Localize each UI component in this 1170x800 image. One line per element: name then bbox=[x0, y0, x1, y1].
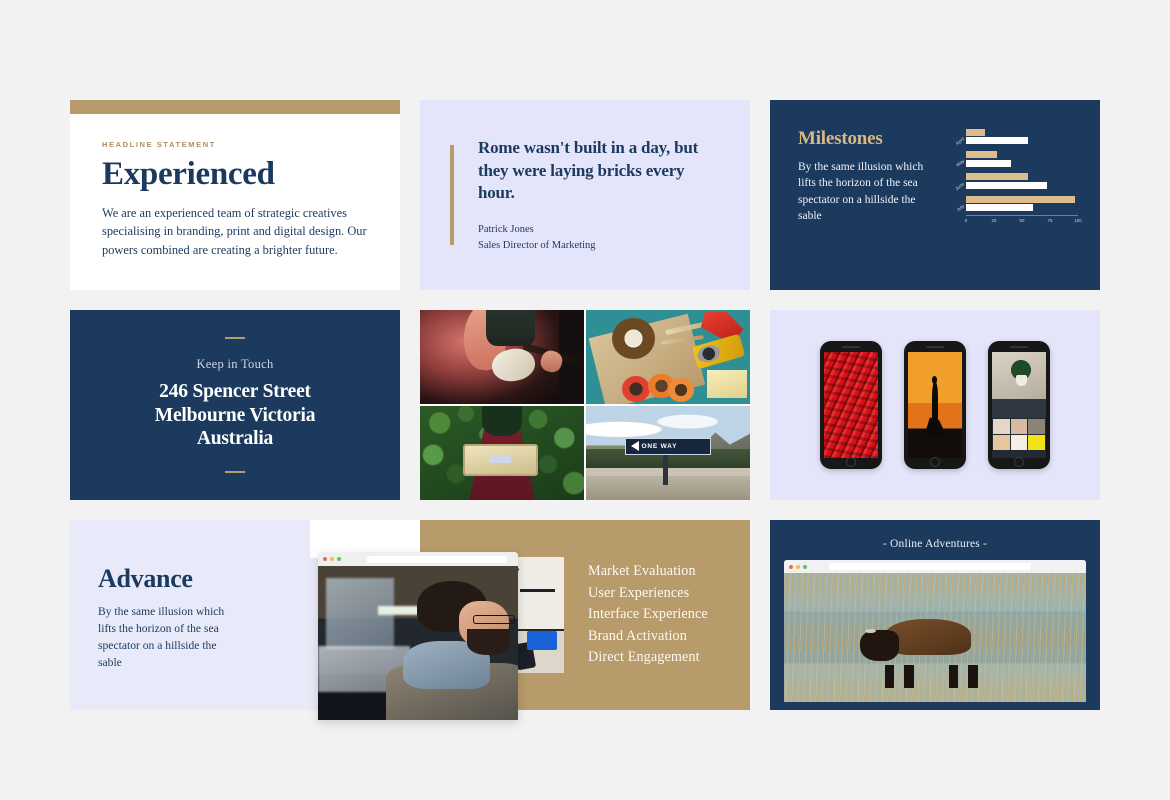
card-milestones: Milestones By the same illusion which li… bbox=[770, 100, 1100, 290]
quote-rule bbox=[450, 145, 454, 245]
card-grid: HEADLINE STATEMENT Experienced We are an… bbox=[70, 100, 1100, 710]
service-item: User Experiences bbox=[588, 583, 708, 605]
phone-red-seats bbox=[820, 341, 882, 469]
chart-tick-label: 0 bbox=[965, 218, 967, 223]
accent-bar bbox=[70, 100, 400, 114]
browser-chrome bbox=[318, 552, 518, 566]
phone-screen-app bbox=[992, 352, 1046, 458]
address-bar[interactable] bbox=[367, 556, 507, 563]
one-way-sign: ONE WAY bbox=[625, 438, 710, 455]
guitarist-photo bbox=[420, 310, 584, 404]
service-item: Interface Experience bbox=[588, 604, 708, 626]
divider-top bbox=[225, 337, 245, 339]
milestones-title: Milestones bbox=[798, 128, 930, 150]
chart-bar bbox=[966, 137, 1028, 144]
chart-group: July bbox=[950, 195, 1078, 212]
one-way-sign-photo: ONE WAY bbox=[586, 406, 750, 500]
card-experienced: HEADLINE STATEMENT Experienced We are an… bbox=[70, 100, 400, 290]
home-button-icon bbox=[930, 457, 940, 467]
ivy-suitcase-photo bbox=[420, 406, 584, 500]
phone-screen-seats bbox=[824, 352, 878, 458]
traffic-light-dots-icon bbox=[323, 557, 341, 561]
browser-chrome bbox=[784, 560, 1086, 573]
card-online-adventures: - Online Adventures - bbox=[770, 520, 1100, 710]
chart-tick-label: 50 bbox=[1020, 218, 1025, 223]
milestones-body: By the same illusion which lifts the hor… bbox=[798, 159, 930, 224]
chart-tick-label: 100 bbox=[1074, 218, 1081, 223]
chart-tick-label: 75 bbox=[1048, 218, 1053, 223]
divider-bottom bbox=[225, 471, 245, 473]
quote-role: Sales Director of Marketing bbox=[478, 238, 720, 253]
quote-text: Rome wasn't built in a day, but they wer… bbox=[478, 137, 720, 204]
milestones-bar-chart: AprilMayJuneJuly 0255075100 bbox=[930, 128, 1078, 268]
card-quote: Rome wasn't built in a day, but they wer… bbox=[420, 100, 750, 290]
card-address: Keep in Touch 246 Spencer Street Melbour… bbox=[70, 310, 400, 500]
one-way-sign-text: ONE WAY bbox=[642, 443, 678, 450]
online-adventures-label: - Online Adventures - bbox=[784, 538, 1086, 550]
chart-bar bbox=[966, 129, 985, 136]
arrow-left-icon bbox=[631, 441, 639, 451]
service-item: Brand Activation bbox=[588, 626, 708, 648]
address-line-3: Australia bbox=[155, 427, 316, 451]
keep-in-touch-label: Keep in Touch bbox=[196, 357, 273, 372]
chart-bar bbox=[966, 196, 1075, 203]
chart-bar bbox=[966, 182, 1047, 189]
address-line-1: 246 Spencer Street bbox=[155, 380, 316, 404]
eyebrow-label: HEADLINE STATEMENT bbox=[102, 140, 368, 149]
traffic-light-dots-icon bbox=[789, 565, 807, 569]
phone-interior-app bbox=[988, 341, 1050, 469]
home-button-icon bbox=[846, 457, 856, 467]
chart-tick-label: 25 bbox=[992, 218, 997, 223]
bison-field-photo bbox=[784, 573, 1086, 702]
glasses-icon bbox=[473, 615, 515, 624]
moodboard-canvas: HEADLINE STATEMENT Experienced We are an… bbox=[0, 0, 1170, 800]
service-item: Direct Engagement bbox=[588, 647, 708, 669]
services-list: Market EvaluationUser ExperiencesInterfa… bbox=[588, 561, 708, 669]
card-photo-grid: ONE WAY bbox=[420, 310, 750, 500]
body-paragraph: We are an experienced team of strategic … bbox=[102, 204, 368, 261]
chart-group: June bbox=[950, 173, 1078, 190]
quote-author: Patrick Jones bbox=[478, 222, 720, 237]
address-line-2: Melbourne Victoria bbox=[155, 404, 316, 428]
chart-bar bbox=[966, 160, 1011, 167]
chart-bar bbox=[966, 173, 1028, 180]
home-button-icon bbox=[1014, 457, 1024, 467]
page-title: Experienced bbox=[102, 157, 368, 192]
browser-mockup-adventures bbox=[784, 560, 1086, 702]
card-phone-mockups bbox=[770, 310, 1100, 500]
chart-x-axis: 0255075100 bbox=[966, 215, 1078, 227]
phone-screen-sunset bbox=[908, 352, 962, 458]
advance-title: Advance bbox=[98, 564, 240, 594]
browser-mockup-advance bbox=[318, 552, 518, 720]
chart-group: May bbox=[950, 150, 1078, 167]
card-advance: Advance By the same illusion which lifts… bbox=[70, 520, 400, 710]
address-block: 246 Spencer Street Melbourne Victoria Au… bbox=[155, 380, 316, 451]
chart-bar bbox=[966, 204, 1033, 211]
street-photo bbox=[318, 566, 518, 720]
phone-sunset-silhouette bbox=[904, 341, 966, 469]
craft-tools-photo bbox=[586, 310, 750, 404]
address-bar[interactable] bbox=[829, 563, 1031, 570]
service-item: Market Evaluation bbox=[588, 561, 708, 583]
advance-body: By the same illusion which lifts the hor… bbox=[98, 603, 240, 672]
chart-group: April bbox=[950, 128, 1078, 145]
chart-bar bbox=[966, 151, 997, 158]
